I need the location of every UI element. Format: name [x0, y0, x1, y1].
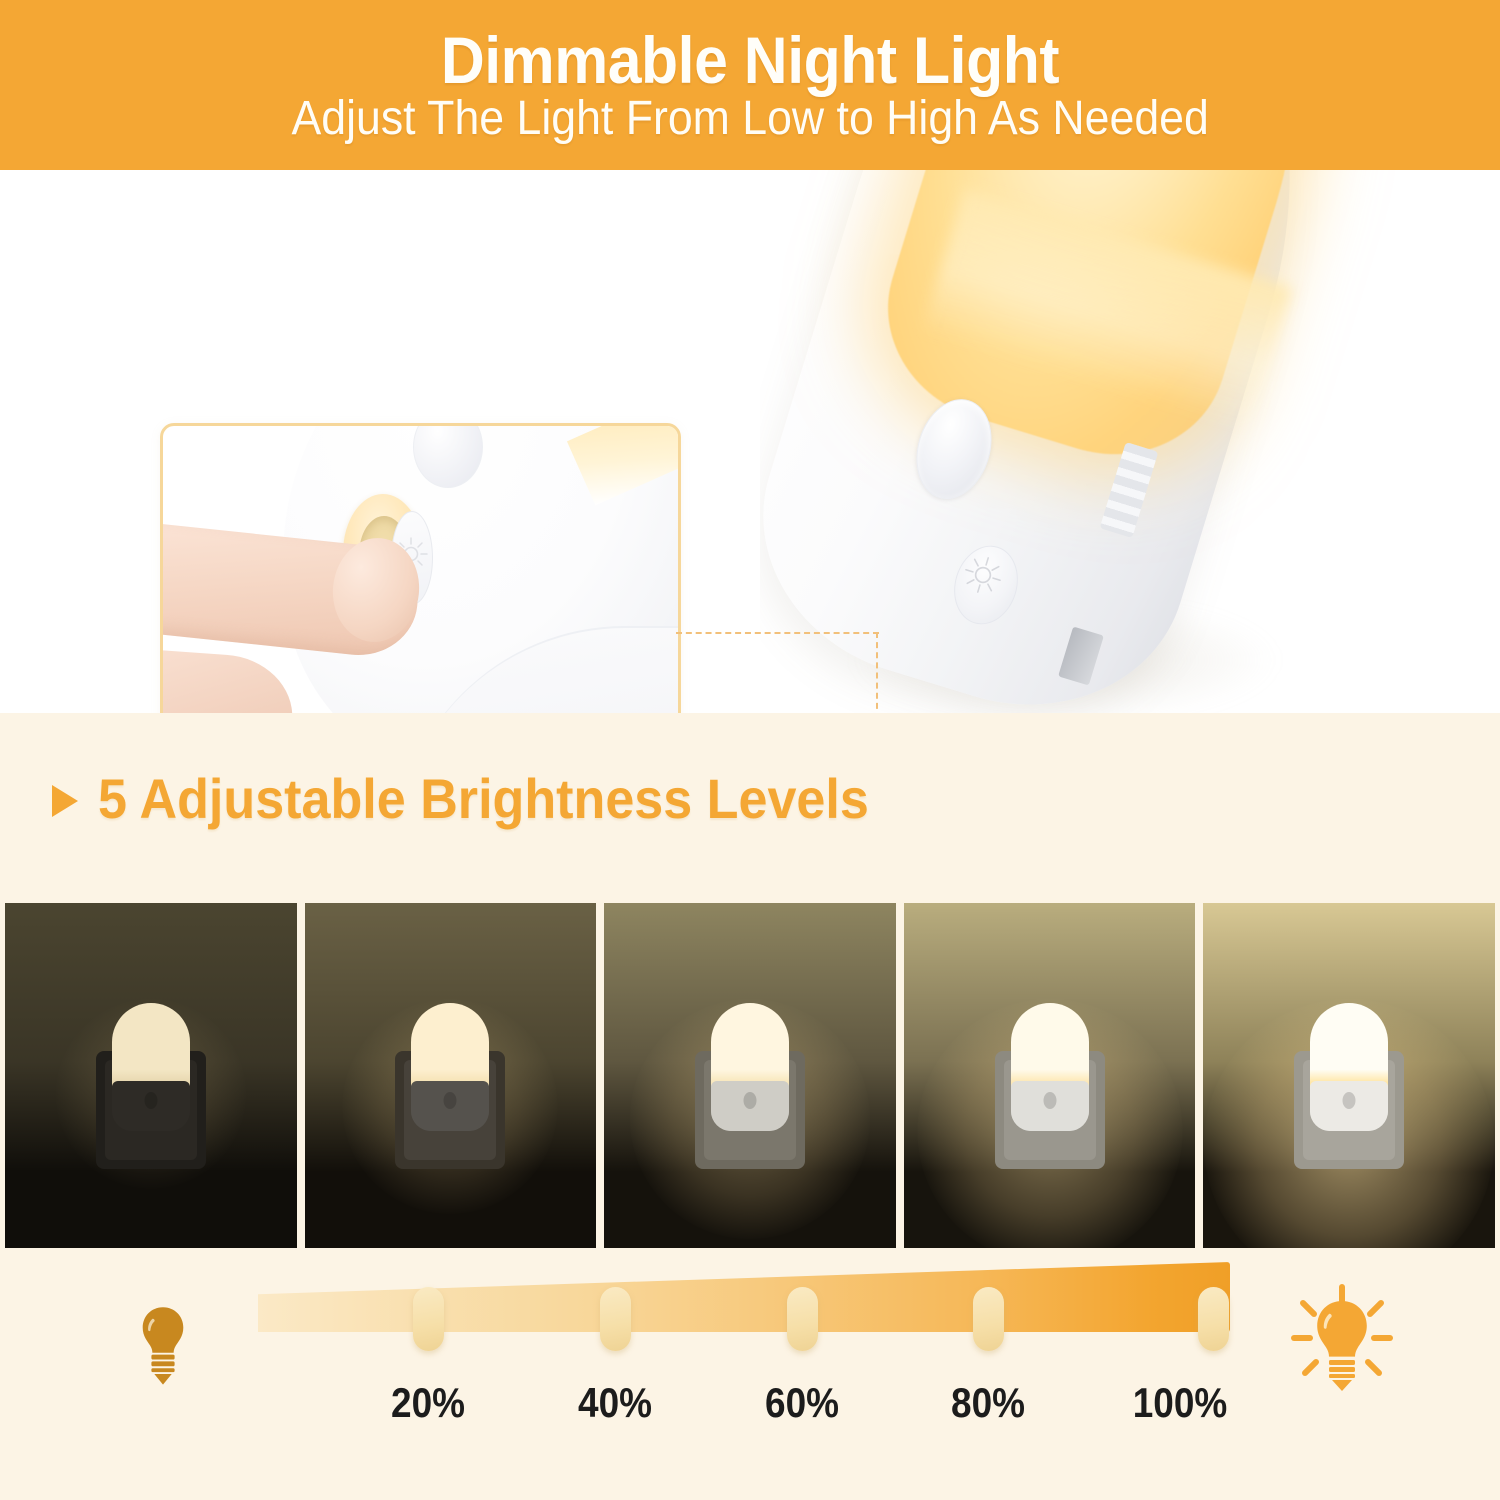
bulb-off-icon — [134, 1303, 192, 1392]
page-title: Dimmable Night Light — [441, 27, 1059, 93]
sensor-dot-icon — [144, 1092, 157, 1109]
sensor-dot-icon — [743, 1092, 756, 1109]
top-demo-section: Button to Choose the Brightness — [0, 170, 1500, 713]
slider-tick[interactable] — [413, 1287, 444, 1351]
brightness-level-photo-strip — [5, 903, 1495, 1248]
triangle-right-icon — [52, 785, 78, 817]
slider-tick-label: 60% — [765, 1379, 839, 1427]
brightness-level-photo — [305, 903, 597, 1248]
slider-tick[interactable] — [600, 1287, 631, 1351]
brightness-level-photo — [1203, 903, 1495, 1248]
sensor-dot-icon — [1043, 1092, 1056, 1109]
night-light-device — [711, 1003, 789, 1131]
inset-closeup-photo — [160, 423, 681, 713]
night-light-device — [411, 1003, 489, 1131]
callout-line-horizontal — [676, 632, 879, 634]
bulb-on-icon — [1290, 1283, 1394, 1398]
slider-tick[interactable] — [787, 1287, 818, 1351]
brightness-levels-section: 5 Adjustable Brightness Levels — [0, 713, 1500, 1500]
night-light-device — [1310, 1003, 1388, 1131]
finger-knuckle — [160, 649, 296, 713]
slider-track-wrap[interactable] — [258, 1262, 1230, 1382]
night-light-device — [112, 1003, 190, 1131]
slider-tick-label: 80% — [951, 1379, 1025, 1427]
slider-track[interactable] — [258, 1262, 1230, 1332]
slider-tick-label: 100% — [1133, 1379, 1228, 1427]
slider-tick[interactable] — [973, 1287, 1004, 1351]
slider-tick[interactable] — [1198, 1287, 1229, 1351]
slider-tick-label: 20% — [391, 1379, 465, 1427]
night-light-device — [1011, 1003, 1089, 1131]
brightness-level-photo — [604, 903, 896, 1248]
sensor-dot-icon — [444, 1092, 457, 1109]
brightness-slider[interactable]: 20%40%60%80%100% — [0, 1261, 1500, 1500]
page-subtitle: Adjust The Light From Low to High As Nee… — [291, 95, 1208, 143]
section-headline: 5 Adjustable Brightness Levels — [98, 771, 869, 827]
slider-tick-label: 40% — [578, 1379, 652, 1427]
brightness-level-photo — [904, 903, 1196, 1248]
section-headline-row: 5 Adjustable Brightness Levels — [52, 771, 927, 827]
sensor-dot-icon — [1343, 1092, 1356, 1109]
callout-line-vertical — [876, 632, 878, 713]
brightness-level-photo — [5, 903, 297, 1248]
product-infographic: Dimmable Night Light Adjust The Light Fr… — [0, 0, 1500, 1500]
header-banner: Dimmable Night Light Adjust The Light Fr… — [0, 0, 1500, 170]
